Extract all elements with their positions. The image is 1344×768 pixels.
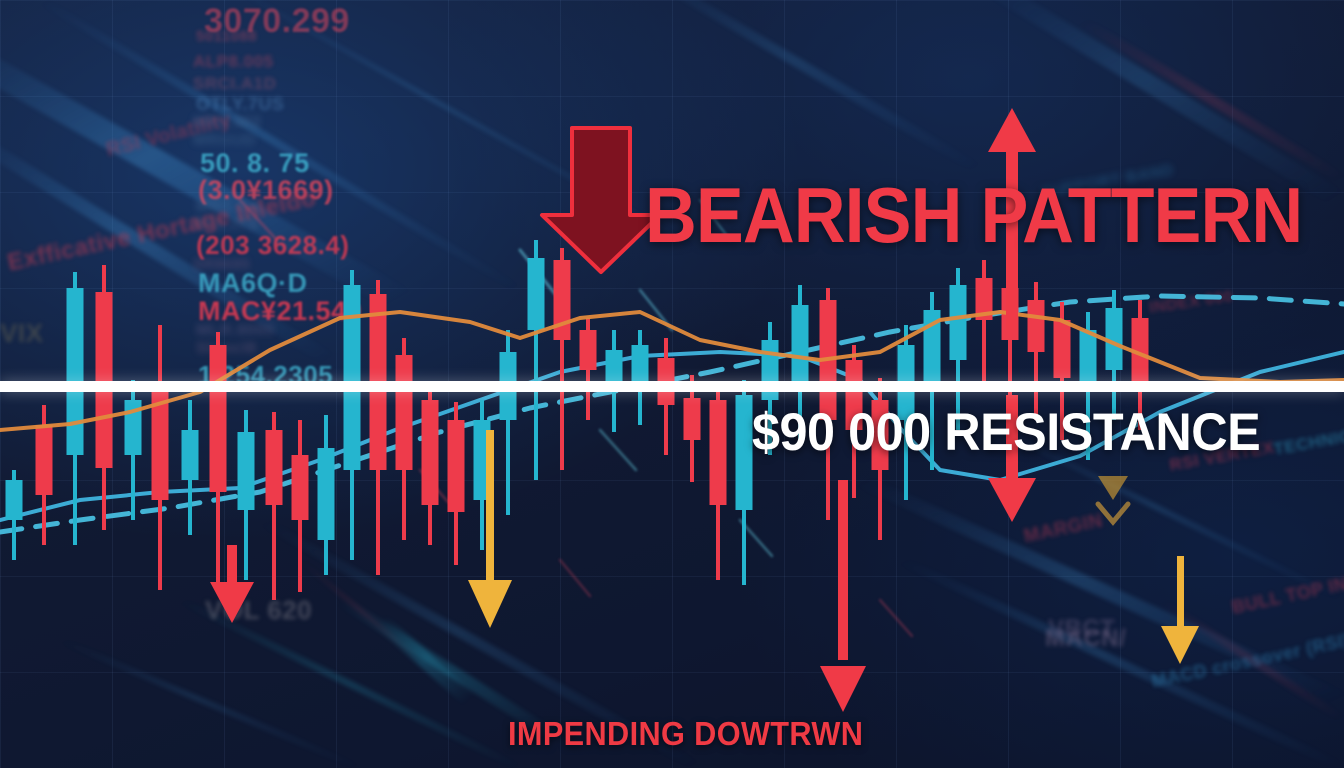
ghost-text-18: VOL 620 [205,595,312,626]
ghost-text-23: VIX [0,318,43,349]
bearish-pattern-label: BEARISH PATTERN [645,170,1302,261]
impending-downturn-label: IMPENDING DOWTRWN [508,715,863,753]
ghost-text-1: 5011088 [196,28,257,45]
ghost-text-26: MARGIN [1022,510,1105,548]
ghost-text-13: MA6Q·D [198,268,308,299]
ghost-text-29: INDEX 000 [1148,288,1234,318]
ghost-text-20: MACN/ [1045,625,1126,653]
chart-image: 3070.2995011088ALP8.005SRCI.A1DOTLY.7USM… [0,0,1344,768]
ghost-text-28: MACD crossover (RSI) [1150,630,1344,693]
ghost-text-2: ALP8.005 [193,52,274,72]
ghost-text-25: TECHNICAL [1272,422,1344,460]
ghost-text-27: BULL TOP INDEX [1230,566,1344,619]
ghost-text-15: MLR.8000 [196,322,275,340]
resistance-price-label: $90 000 RESISTANCE [752,402,1260,463]
ghost-text-16: Sloocl8 [196,340,256,358]
ghost-text-4: OTLY.7US [196,94,284,115]
ghost-text-3: SRCI.A1D [193,74,276,94]
resistance-line [0,381,1344,392]
